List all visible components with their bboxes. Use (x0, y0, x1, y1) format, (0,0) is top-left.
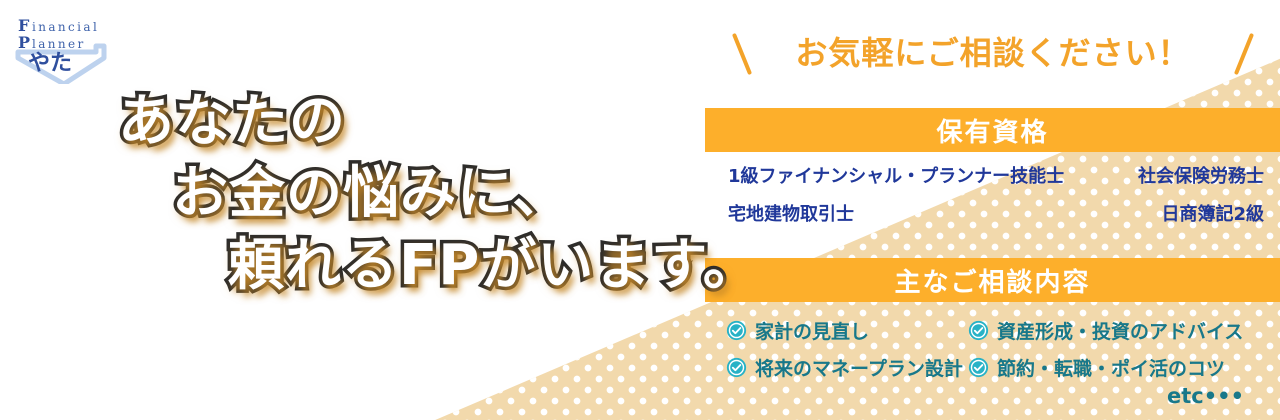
topic-item: 資産形成・投資のアドバイス (968, 317, 1280, 344)
logo-initial-p: P (18, 33, 30, 52)
headline-line-1: あなたの (0, 86, 680, 158)
qualification-item: 日商簿記2級 (1096, 200, 1280, 226)
logo-word-planner: lanner (32, 37, 86, 51)
hero-banner: F inancial P lanner やた あなたの お金の悩みに、 頼れるF… (0, 0, 1280, 420)
logo-word-financial: inancial (32, 20, 99, 34)
topic-label: 節約・転職・ポイ活のコツ (997, 354, 1225, 381)
qualification-item: 1級ファイナンシャル・プランナー技能士 (700, 162, 1096, 188)
topics-list: 家計の見直し 資産形成・投資のアドバイス (700, 312, 1280, 386)
topics-banner: 主なご相談内容 (705, 258, 1280, 302)
info-panel: お気軽にご相談ください！ 保有資格 1級ファイナンシャル・プランナー技能士 社会… (700, 0, 1280, 420)
topic-item: 将来のマネープラン設計 (700, 354, 968, 381)
qualifications-banner: 保有資格 (705, 108, 1280, 152)
qualifications-list: 1級ファイナンシャル・プランナー技能士 社会保険労務士 宅地建物取引士 日商簿記… (700, 162, 1280, 238)
qualification-item: 社会保険労務士 (1096, 162, 1280, 188)
logo-word-yata: やた (28, 51, 72, 76)
check-circle-icon (726, 357, 747, 378)
site-logo[interactable]: F inancial P lanner やた (12, 12, 122, 84)
catchcopy-text: お気軽にご相談ください！ (752, 26, 1234, 80)
topic-label: 将来のマネープラン設計 (755, 354, 963, 381)
headline-line-2: お金の悩みに、 (0, 158, 680, 230)
etc-note: etc••• (700, 384, 1280, 408)
topic-row: 家計の見直し 資産形成・投資のアドバイス (700, 312, 1280, 349)
topic-item: 家計の見直し (700, 317, 968, 344)
qualification-row: 1級ファイナンシャル・プランナー技能士 社会保険労務士 (700, 162, 1280, 200)
qualification-row: 宅地建物取引士 日商簿記2級 (700, 200, 1280, 238)
topics-banner-label: 主なご相談内容 (894, 262, 1090, 299)
slash-right-icon (1234, 33, 1254, 75)
headline-line-3: 頼れるFPがいます。 (0, 230, 680, 302)
hero-headline: あなたの お金の悩みに、 頼れるFPがいます。 (0, 86, 680, 302)
check-circle-icon (726, 320, 747, 341)
topic-item: 節約・転職・ポイ活のコツ (968, 354, 1280, 381)
qualifications-banner-label: 保有資格 (936, 112, 1048, 149)
logo-graphic: F inancial P lanner やた (12, 12, 122, 84)
topic-label: 資産形成・投資のアドバイス (997, 317, 1243, 344)
topic-row: 将来のマネープラン設計 節約・転職・ポイ活のコツ (700, 349, 1280, 386)
check-circle-icon (968, 320, 989, 341)
slash-left-icon (732, 33, 752, 75)
qualification-item: 宅地建物取引士 (700, 200, 1096, 226)
topic-label: 家計の見直し (755, 317, 869, 344)
catchcopy: お気軽にご相談ください！ (700, 24, 1280, 86)
check-circle-icon (968, 357, 989, 378)
